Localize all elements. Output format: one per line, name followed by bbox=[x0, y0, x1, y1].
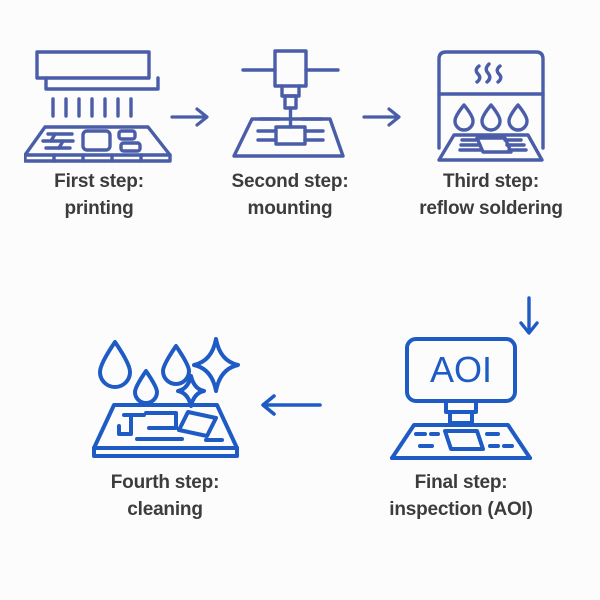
step-label-line2: reflow soldering bbox=[419, 196, 563, 223]
reflow-oven-icon bbox=[425, 48, 557, 163]
process-step-reflow: Third step: reflow soldering bbox=[396, 48, 586, 223]
step-label-line1: Final step: bbox=[415, 472, 508, 493]
process-step-inspection-caption: Final step: inspection (AOI) bbox=[389, 470, 533, 524]
process-step-printing-caption: First step: printing bbox=[54, 169, 144, 223]
process-step-inspection: AOI Final step: inspection (AOI) bbox=[366, 336, 556, 524]
process-step-printing: First step: printing bbox=[14, 48, 184, 223]
step-label-line1: Third step: bbox=[443, 171, 539, 192]
aoi-screen-label: AOI bbox=[430, 349, 492, 390]
step-label-line2: inspection (AOI) bbox=[389, 497, 533, 524]
step-label-line1: Second step: bbox=[232, 171, 349, 192]
arrow-right-icon-mounting-to-reflow bbox=[362, 104, 404, 135]
step-label-line1: Fourth step: bbox=[111, 472, 219, 493]
step-label-line2: printing bbox=[54, 196, 144, 223]
pick-and-place-mounter-icon bbox=[230, 48, 350, 163]
process-step-mounting: Second step: mounting bbox=[212, 48, 368, 223]
process-step-cleaning: Fourth step: cleaning bbox=[70, 336, 260, 524]
step-label-line2: mounting bbox=[232, 196, 349, 223]
step-label-line2: cleaning bbox=[111, 497, 219, 524]
process-step-reflow-caption: Third step: reflow soldering bbox=[419, 169, 563, 223]
step-label-line1: First step: bbox=[54, 171, 144, 192]
process-flow-diagram: First step: printing bbox=[0, 0, 600, 600]
arrow-left-icon-inspection-to-cleaning bbox=[258, 392, 322, 423]
pcb-cleaning-icon-wrap bbox=[89, 336, 241, 464]
pcb-cleaning-icon bbox=[89, 336, 241, 464]
solder-paste-printer-icon bbox=[24, 48, 174, 163]
aoi-inspection-monitor-icon-wrap: AOI bbox=[388, 336, 534, 464]
arrow-down-icon-reflow-to-inspection bbox=[516, 296, 542, 345]
process-step-mounting-caption: Second step: mounting bbox=[232, 169, 349, 223]
process-step-cleaning-caption: Fourth step: cleaning bbox=[111, 470, 219, 524]
aoi-inspection-monitor-icon: AOI bbox=[388, 336, 534, 464]
solder-paste-printer-icon-wrap bbox=[24, 48, 174, 163]
arrow-right-icon-printing-to-mounting bbox=[170, 104, 212, 135]
reflow-oven-icon-wrap bbox=[425, 48, 557, 163]
pick-and-place-mounter-icon-wrap bbox=[230, 48, 350, 163]
